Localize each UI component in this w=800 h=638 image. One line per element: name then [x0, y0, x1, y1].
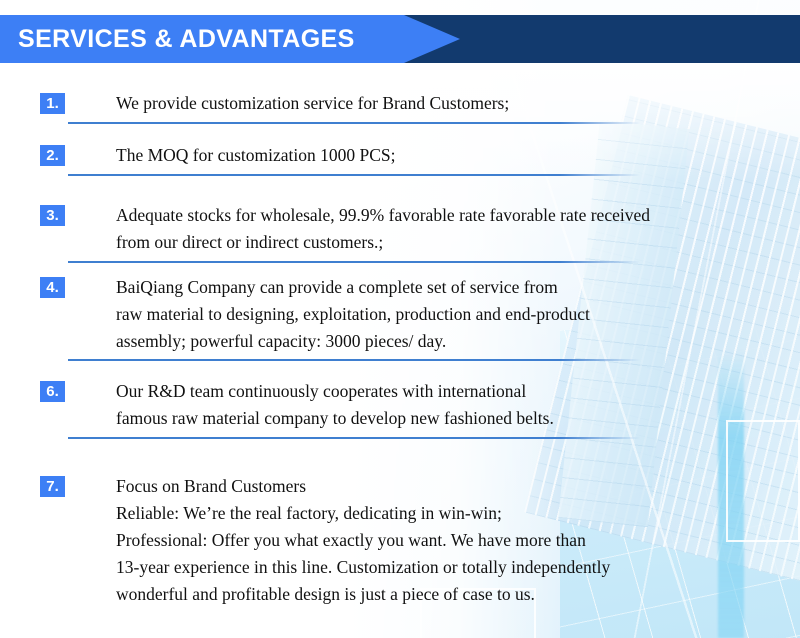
list-item-line: assembly; powerful capacity: 3000 pieces…: [116, 328, 800, 355]
list-item-divider: [68, 437, 640, 439]
list-item-number-badge: 7.: [40, 476, 65, 497]
list-item-number-badge: 3.: [40, 205, 65, 226]
list-item-line: Professional: Offer you what exactly you…: [116, 527, 800, 554]
list-item-text: Focus on Brand CustomersReliable: We’re …: [116, 473, 800, 608]
list-item-number-badge: 2.: [40, 145, 65, 166]
list-item-line: Our R&D team continuously cooperates wit…: [116, 378, 800, 405]
list-item-line: 13-year experience in this line. Customi…: [116, 554, 800, 581]
list-item-line: We provide customization service for Bra…: [116, 90, 800, 117]
list-item-text: BaiQiang Company can provide a complete …: [116, 274, 800, 355]
list-item-line: Focus on Brand Customers: [116, 473, 800, 500]
list-item-number-badge: 6.: [40, 381, 65, 402]
list-item-line: BaiQiang Company can provide a complete …: [116, 274, 800, 301]
list-item: 6.Our R&D team continuously cooperates w…: [0, 378, 800, 432]
list-item: 2.The MOQ for customization 1000 PCS;: [0, 142, 800, 169]
list-item: 1.We provide customization service for B…: [0, 90, 800, 117]
services-advantages-slide: SERVICES & ADVANTAGES 1.We provide custo…: [0, 0, 800, 638]
list-item-text: The MOQ for customization 1000 PCS;: [116, 142, 800, 169]
list-item-divider: [68, 122, 640, 124]
page-title: SERVICES & ADVANTAGES: [18, 15, 355, 63]
list-item-line: from our direct or indirect customers.;: [116, 229, 800, 256]
list-item-line: Adequate stocks for wholesale, 99.9% fav…: [116, 202, 800, 229]
list-item-line: wonderful and profitable design is just …: [116, 581, 800, 608]
list-item-line: Reliable: We’re the real factory, dedica…: [116, 500, 800, 527]
list-item-text: We provide customization service for Bra…: [116, 90, 800, 117]
list-item-text: Adequate stocks for wholesale, 99.9% fav…: [116, 202, 800, 256]
list-item-line: raw material to designing, exploitation,…: [116, 301, 800, 328]
list-item-text: Our R&D team continuously cooperates wit…: [116, 378, 800, 432]
list-item-divider: [68, 359, 640, 361]
list-item: 3.Adequate stocks for wholesale, 99.9% f…: [0, 202, 800, 256]
list-item: 4.BaiQiang Company can provide a complet…: [0, 274, 800, 355]
list-item-line: famous raw material company to develop n…: [116, 405, 800, 432]
list-item: 7.Focus on Brand CustomersReliable: We’r…: [0, 473, 800, 608]
list-item-number-badge: 4.: [40, 277, 65, 298]
header-banner: SERVICES & ADVANTAGES: [0, 15, 800, 63]
list-item-number-badge: 1.: [40, 93, 65, 114]
list-item-line: The MOQ for customization 1000 PCS;: [116, 142, 800, 169]
list-item-divider: [68, 174, 640, 176]
list-item-divider: [68, 261, 640, 263]
